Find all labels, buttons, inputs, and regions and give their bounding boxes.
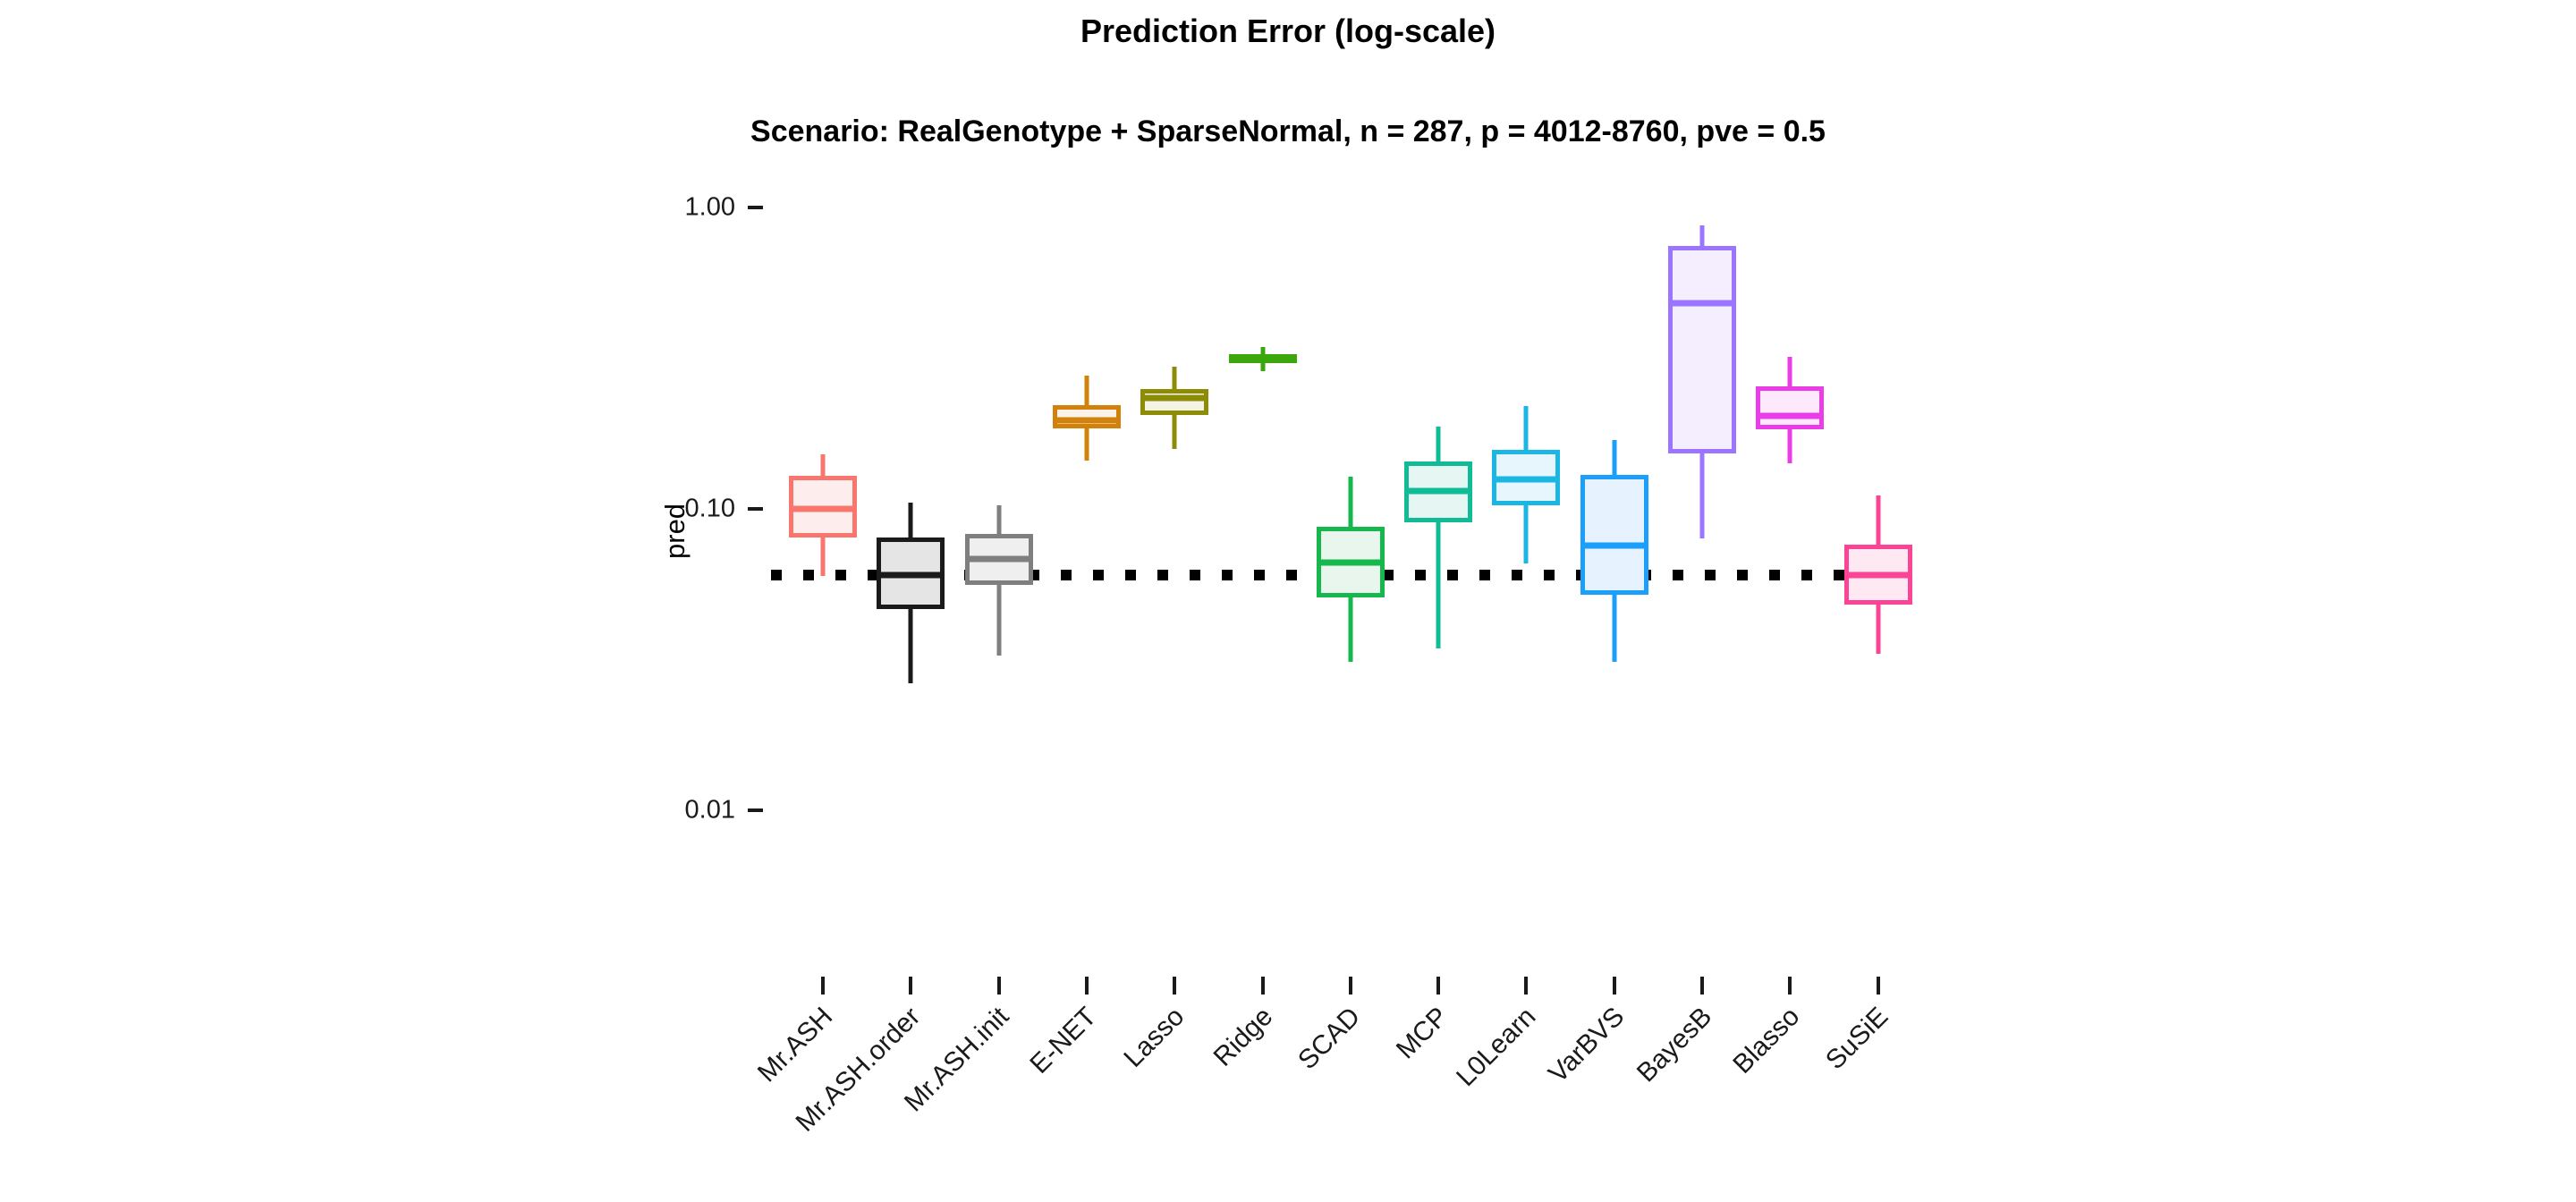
x-tick-label-ridge: Ridge — [1207, 1002, 1278, 1072]
y-tick-mark — [748, 206, 763, 209]
x-tick-mark — [1524, 977, 1528, 995]
x-tick-mark — [997, 977, 1001, 995]
y-tick-mark — [748, 808, 763, 812]
x-tick-label-mr-ash: Mr.ASH — [752, 1002, 839, 1088]
plot-panel — [771, 188, 1925, 832]
y-tick-label: 0.01 — [685, 796, 735, 825]
x-tick-label-bayesb: BayesB — [1631, 1002, 1718, 1088]
x-tick-mark — [1877, 977, 1880, 995]
chart-title: Prediction Error (log-scale) — [0, 13, 2576, 50]
x-tick-mark — [1085, 977, 1089, 995]
x-tick-label-e-net: E-NET — [1024, 1002, 1103, 1080]
x-tick-mark — [1173, 977, 1176, 995]
x-tick-label-mcp: MCP — [1391, 1002, 1454, 1065]
x-tick-label-lasso: Lasso — [1119, 1002, 1191, 1074]
x-tick-mark — [1788, 977, 1792, 995]
x-tick-mark — [1349, 977, 1352, 995]
chart-subtitle: Scenario: RealGenotype + SparseNormal, n… — [0, 114, 2576, 149]
x-tick-mark — [1613, 977, 1616, 995]
y-tick-mark — [748, 507, 763, 511]
x-tick-label-l0learn: L0Learn — [1452, 1002, 1543, 1093]
whisker-upper — [1876, 495, 1880, 545]
y-tick-label: 0.10 — [685, 495, 735, 524]
median-line — [1844, 571, 1912, 578]
chart-root: Prediction Error (log-scale) Scenario: R… — [0, 0, 2576, 1202]
y-tick-label: 1.00 — [685, 193, 735, 223]
x-tick-label-scad: SCAD — [1292, 1002, 1367, 1076]
x-tick-mark — [1436, 977, 1440, 995]
x-tick-mark — [821, 977, 825, 995]
x-tick-label-blasso: Blasso — [1728, 1002, 1807, 1080]
x-tick-mark — [909, 977, 912, 995]
x-tick-mark — [1261, 977, 1265, 995]
x-tick-label-susie: SuSiE — [1820, 1002, 1894, 1076]
x-tick-label-varbvs: VarBVS — [1543, 1002, 1631, 1089]
whisker-lower — [1876, 605, 1880, 654]
x-tick-mark — [1700, 977, 1704, 995]
boxplot-susie — [771, 188, 1925, 832]
